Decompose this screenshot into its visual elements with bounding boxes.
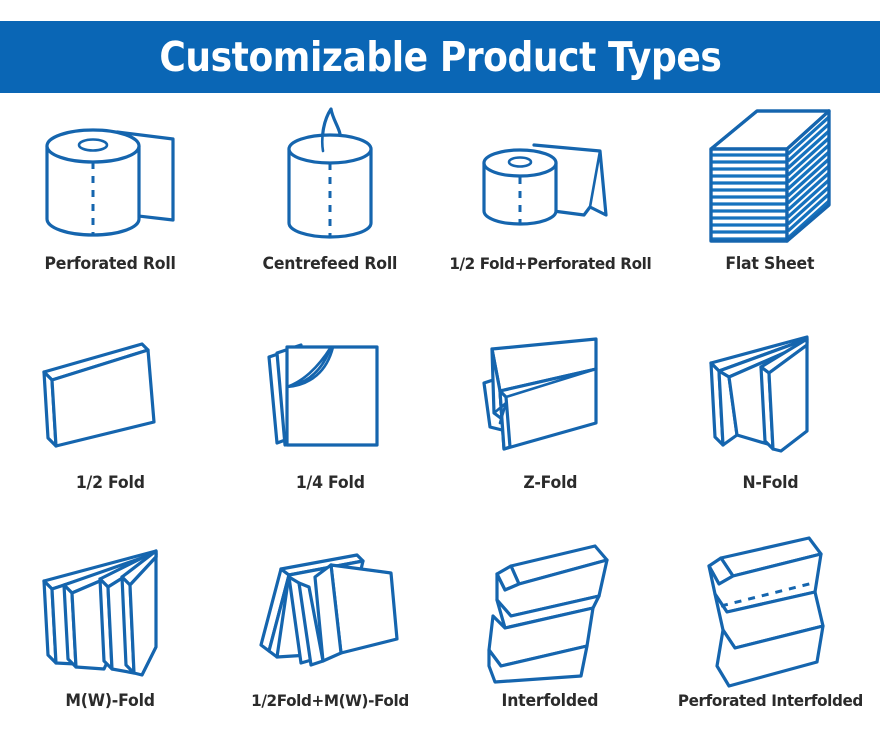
grid-item-flat-sheet[interactable]: Flat Sheet [660, 93, 880, 312]
grid-item-interfolded[interactable]: Interfolded [440, 530, 660, 749]
grid-item-half-fold[interactable]: 1/2 Fold [0, 312, 220, 531]
grid-item-label: 1/2 Fold+Perforated Roll [449, 255, 651, 273]
grid-item-label: 1/4 Fold [296, 474, 365, 492]
grid-item-perforated-roll[interactable]: Perforated Roll [0, 93, 220, 312]
quarter-fold-icon [240, 320, 420, 470]
grid-item-label: M(W)-Fold [65, 692, 154, 710]
flat-sheet-stack-icon [680, 101, 860, 251]
z-fold-icon [460, 320, 640, 470]
interfolded-icon [460, 538, 640, 688]
grid-item-half-fold-m-w-fold[interactable]: 1/2Fold+M(W)-Fold [220, 530, 440, 749]
perforated-roll-icon [20, 101, 200, 251]
grid-item-label: Perforated Roll [44, 255, 175, 273]
half-fold-icon [20, 320, 200, 470]
grid-item-label: Flat Sheet [726, 255, 815, 273]
n-fold-icon [680, 320, 860, 470]
grid-item-n-fold[interactable]: N-Fold [660, 312, 880, 531]
grid-item-label: 1/2 Fold [76, 474, 145, 492]
grid-item-z-fold[interactable]: Z-Fold [440, 312, 660, 531]
page-title: Customizable Product Types [159, 37, 721, 78]
grid-item-label: N-Fold [742, 474, 798, 492]
product-types-infographic: Customizable Product Types Perf [0, 0, 880, 749]
half-fold-m-w-fold-icon [240, 538, 420, 688]
grid-item-m-w-fold[interactable]: M(W)-Fold [0, 530, 220, 749]
grid-item-label: Interfolded [502, 692, 599, 710]
half-fold-perforated-roll-icon [460, 101, 640, 251]
grid-item-label: Z-Fold [523, 474, 577, 492]
grid-item-label: 1/2Fold+M(W)-Fold [251, 692, 409, 710]
centrefeed-roll-icon [240, 101, 420, 251]
perforated-interfolded-icon [680, 538, 860, 688]
grid-item-quarter-fold[interactable]: 1/4 Fold [220, 312, 440, 531]
header-banner: Customizable Product Types [0, 21, 880, 93]
grid-item-half-fold-perforated-roll[interactable]: 1/2 Fold+Perforated Roll [440, 93, 660, 312]
grid-item-centrefeed-roll[interactable]: Centrefeed Roll [220, 93, 440, 312]
m-w-fold-icon [20, 538, 200, 688]
grid-item-label: Centrefeed Roll [263, 255, 398, 273]
grid-item-perforated-interfolded[interactable]: Perforated Interfolded [660, 530, 880, 749]
product-type-grid: Perforated Roll Centrefeed Roll [0, 93, 880, 749]
grid-item-label: Perforated Interfolded [677, 692, 862, 710]
